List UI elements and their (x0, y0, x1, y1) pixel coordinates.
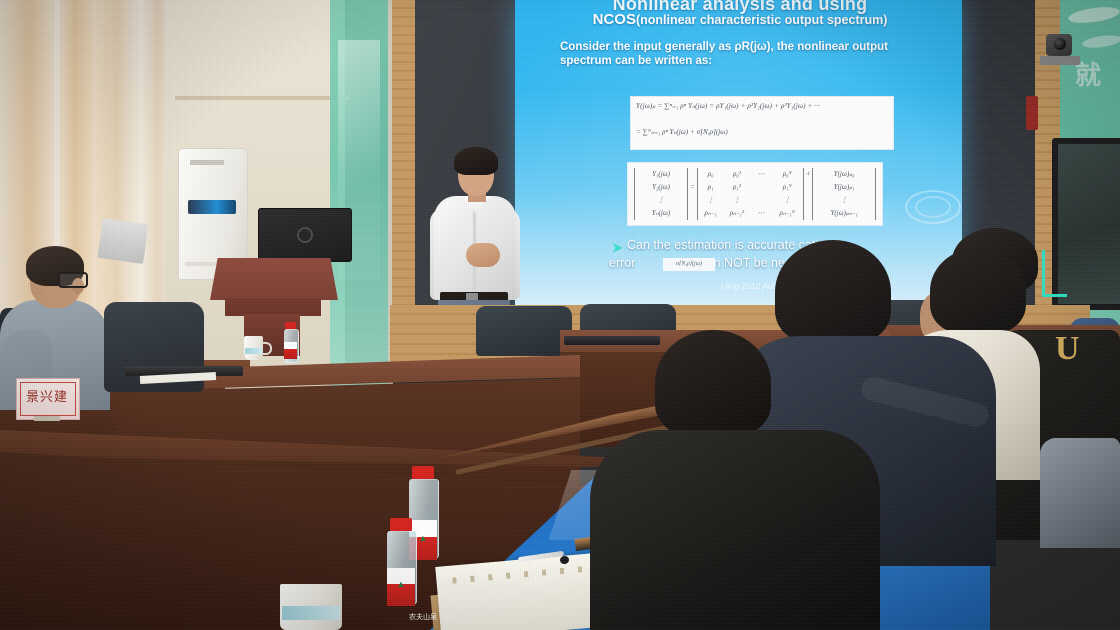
slide-title-acronym: NCOS (593, 11, 636, 28)
audience-hair (655, 330, 771, 436)
slide-bullet-line2: error can NOT be ne (609, 256, 949, 270)
slide-bullet-line1: Can the estimation is accurate cation (627, 238, 947, 252)
bottle-label (284, 342, 297, 359)
camera-mount (1040, 56, 1080, 65)
hoodie-logo: U (1055, 330, 1089, 368)
chair (476, 306, 572, 356)
lecture-room-photo: Nonlinear analysis and using NCOS(nonlin… (0, 0, 1120, 630)
eyeglasses-icon (58, 272, 88, 288)
matrix-row: Yₙ(jω)ρₙ₋₁ρₙ₋₁²⋯ρₙ₋₁ᴺY(jω)ₚₙ₋₁ (635, 207, 876, 220)
matrix-equation: Y₁(jω)ρ₀ρ₀²⋯ρ₀ᴺ-1Y(jω)ₚ₀Y₂(jω)=ρ₁ρ₁²ρ₁ᴺY… (634, 168, 876, 220)
bullet-prefix: error (609, 256, 635, 270)
bottle-tree-logo-icon: ▲ (387, 580, 415, 589)
name-card-stand (34, 416, 60, 421)
presenter-hair (454, 147, 498, 175)
sigma-term-chip: σ[N,ρ](jω) (663, 258, 715, 271)
red-wall-object (1026, 96, 1038, 130)
bottle-cap (285, 322, 296, 329)
wall-trim (175, 96, 350, 100)
bottle-cap (412, 466, 434, 479)
equation-1-line-2: = ∑ᴺₙ₌₁ ρⁿ Yₙ(jω) + σ[N,ρ](jω) (636, 127, 888, 136)
cup-band (245, 348, 262, 354)
equation-1-line-1: Y(jω)ₚ = ∑ⁿ₌₁ ρⁿ Yₙ(jω) = ρY₁(jω) + ρ²Y₂… (636, 101, 888, 110)
slide-lead-text: Consider the input generally as ρR(jω), … (560, 40, 920, 68)
matrix-table: Y₁(jω)ρ₀ρ₀²⋯ρ₀ᴺ-1Y(jω)ₚ₀Y₂(jω)=ρ₁ρ₁²ρ₁ᴺY… (634, 168, 876, 220)
laptop-closed (564, 336, 660, 345)
matrix-row: ⋮⋮⋮⋮⋮ (635, 194, 876, 207)
audience-hair (930, 248, 1026, 334)
audience-hair (775, 240, 891, 344)
folded-jacket (1040, 438, 1120, 548)
presenter-hands (466, 243, 500, 267)
bullet-arrow-icon: ➤ (612, 240, 623, 256)
slide-title-expansion: (nonlinear characteristic output spectru… (636, 13, 887, 27)
lectern-top (210, 258, 338, 300)
name-card-text: 景兴建 (20, 386, 74, 405)
audience-dark-jacket (590, 430, 880, 630)
laptop-lid (97, 218, 148, 264)
teal-corner-marker (1042, 250, 1067, 297)
slide-title-line2: NCOS(nonlinear characteristic output spe… (530, 11, 950, 28)
bottle-brand-text: 农夫山泉 (406, 612, 440, 622)
ac-brand-logo (190, 160, 224, 165)
cup-band (282, 606, 340, 620)
matrix-row: Y₁(jω)ρ₀ρ₀²⋯ρ₀ᴺ-1Y(jω)ₚ₀ (635, 168, 876, 181)
monitor-logo-icon (297, 227, 313, 243)
ac-display-panel (188, 200, 236, 214)
camera-lens-icon (1054, 38, 1066, 50)
matrix-row: Y₂(jω)=ρ₁ρ₁²ρ₁ᴺY(jω)ₚ₁ (635, 181, 876, 194)
bottle-cap (390, 518, 412, 531)
banner-text: 就 (1075, 60, 1120, 120)
slide-ripple-graphic (915, 196, 951, 218)
